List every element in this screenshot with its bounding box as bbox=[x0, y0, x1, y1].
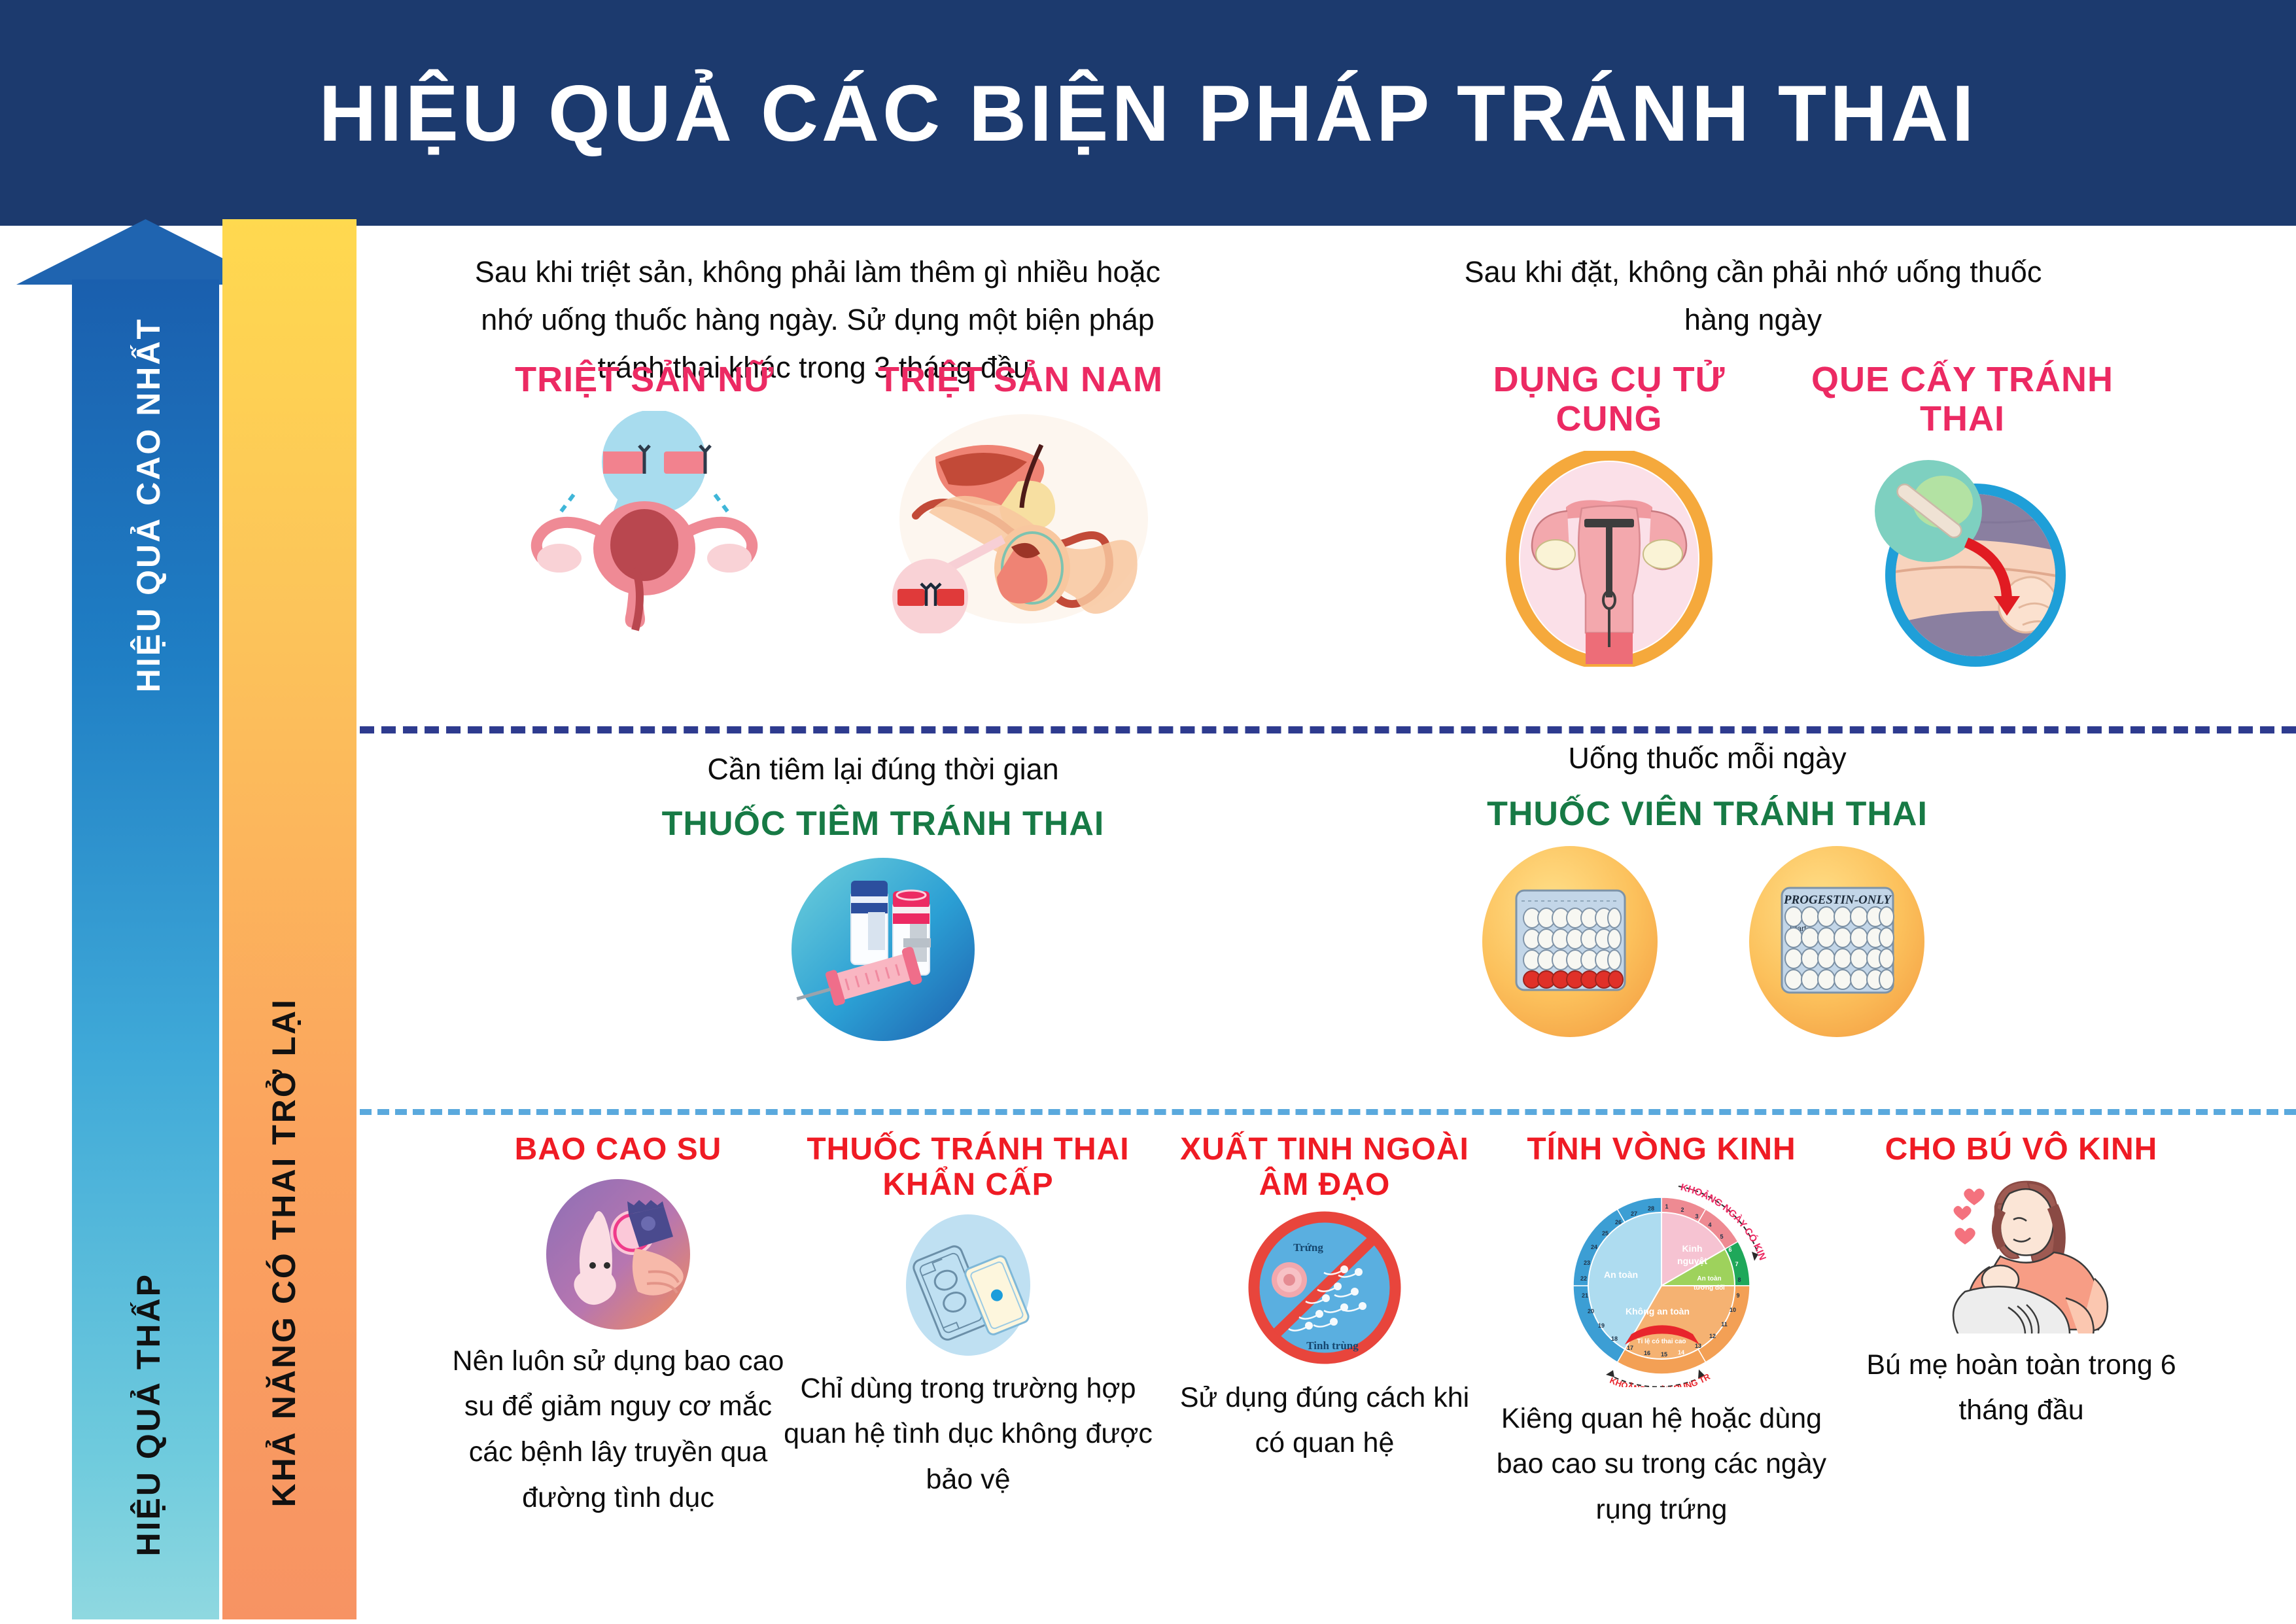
svg-text:16: 16 bbox=[1644, 1350, 1650, 1356]
method-withdrawal[interactable]: XUẤT TINH NGOÀI ÂM ĐẠO Trứng bbox=[1168, 1132, 1482, 1466]
method-title: CHO BÚ VÔ KINH bbox=[1851, 1132, 2191, 1167]
svg-text:28: 28 bbox=[1648, 1205, 1654, 1212]
method-title: THUỐC TIÊM TRÁNH THAI bbox=[608, 805, 1158, 843]
note-iud-implant: Sau khi đặt, không cần phải nhớ uống thu… bbox=[1433, 249, 2074, 344]
row-highest-effectiveness: Sau khi triệt sản, không phải làm thêm g… bbox=[360, 219, 2296, 723]
cycle-label-unsafe: Không an toàn bbox=[1626, 1306, 1690, 1316]
method-title: TÍNH VÒNG KINH bbox=[1478, 1132, 1845, 1167]
breastfeeding-icon bbox=[1930, 1170, 2113, 1333]
svg-text:7: 7 bbox=[1735, 1261, 1738, 1267]
svg-text:23: 23 bbox=[1584, 1260, 1590, 1266]
cycle-high-risk-label: Tỉ lệ có thai cao bbox=[1637, 1338, 1686, 1345]
svg-text:11: 11 bbox=[1721, 1321, 1728, 1328]
method-lactational-amenorrhea[interactable]: CHO BÚ VÔ KINH bbox=[1851, 1132, 2191, 1434]
pill-pack-brand-label: PROGESTIN-ONLY bbox=[1783, 893, 1892, 907]
cycle-wheel-icon: Tỉ lệ có thai cao Kinh nguyệt An toàn tư… bbox=[1554, 1171, 1769, 1387]
condom-icon bbox=[533, 1179, 703, 1330]
page-header: HIỆU QUẢ CÁC BIỆN PHÁP TRÁNH THAI bbox=[0, 0, 2296, 226]
method-implant[interactable]: QUE CẤY TRÁNH THAI bbox=[1779, 360, 2146, 667]
note-oral-pill: Uống thuốc mỗi ngày bbox=[1433, 741, 1982, 775]
method-condom[interactable]: BAO CAO SU bbox=[448, 1132, 788, 1521]
page-title: HIỆU QUẢ CÁC BIỆN PHÁP TRÁNH THAI bbox=[319, 67, 1977, 159]
svg-text:24: 24 bbox=[1591, 1244, 1597, 1250]
svg-text:25: 25 bbox=[1602, 1230, 1609, 1237]
method-oral-pill[interactable]: THUỐC VIÊN TRÁNH THAI bbox=[1433, 795, 1982, 1041]
svg-text:6: 6 bbox=[1728, 1246, 1731, 1253]
female-sterilization-icon bbox=[513, 411, 775, 633]
row-middle-effectiveness: Cần tiêm lại đúng thời gian Uống thuốc m… bbox=[360, 730, 2296, 1109]
method-title: TRIỆT SẢN NỮ bbox=[474, 360, 814, 399]
cycle-label-menses2: nguyệt bbox=[1677, 1256, 1707, 1266]
method-title: TRIỆT SẢN NAM bbox=[850, 360, 1191, 399]
svg-text:20: 20 bbox=[1588, 1308, 1594, 1315]
svg-text:14: 14 bbox=[1678, 1349, 1684, 1356]
method-title: DỤNG CỤ TỬ CUNG bbox=[1439, 360, 1779, 439]
method-male-sterilization[interactable]: TRIỆT SẢN NAM bbox=[850, 360, 1191, 633]
svg-text:5: 5 bbox=[1720, 1233, 1723, 1240]
svg-text:19: 19 bbox=[1598, 1322, 1605, 1329]
method-title: BAO CAO SU bbox=[448, 1132, 788, 1167]
pill-pack-icon: PROGESTIN-ONLY Start bbox=[1433, 845, 1982, 1041]
effectiveness-axis-arrow: HIỆU QUẢ CAO NHẤT HIỆU QUẢ THẤP bbox=[72, 219, 219, 1619]
method-title: XUẤT TINH NGOÀI ÂM ĐẠO bbox=[1168, 1132, 1482, 1203]
svg-text:26: 26 bbox=[1615, 1219, 1622, 1226]
method-caption: Bú mẹ hoàn toàn trong 6 tháng đầu bbox=[1851, 1343, 2191, 1434]
method-title: THUỐC VIÊN TRÁNH THAI bbox=[1433, 795, 1982, 833]
svg-text:9: 9 bbox=[1736, 1292, 1739, 1299]
cycle-label-relsafe2: tương đối bbox=[1694, 1284, 1725, 1292]
method-calendar-rhythm[interactable]: TÍNH VÒNG KINH bbox=[1478, 1132, 1845, 1533]
infographic-page: HIỆU QUẢ CÁC BIỆN PHÁP TRÁNH THAI HIỆU Q… bbox=[0, 0, 2296, 1624]
method-title: QUE CẤY TRÁNH THAI bbox=[1779, 360, 2146, 439]
effectiveness-low-label: HIỆU QUẢ THẤP bbox=[130, 1273, 167, 1556]
note-injection: Cần tiêm lại đúng thời gian bbox=[608, 752, 1158, 786]
cycle-label-menses: Kinh bbox=[1682, 1243, 1702, 1254]
effectiveness-high-label: HIỆU QUẢ CAO NHẤT bbox=[130, 317, 167, 692]
method-caption: Chỉ dùng trong trường hợp quan hệ tình d… bbox=[778, 1366, 1158, 1503]
row-lowest-effectiveness: BAO CAO SU bbox=[360, 1112, 2296, 1619]
svg-text:27: 27 bbox=[1631, 1210, 1637, 1217]
method-title: THUỐC TRÁNH THAI KHẨN CẤP bbox=[778, 1132, 1158, 1203]
method-caption: Nên luôn sử dụng bao cao su để giảm nguy… bbox=[448, 1339, 788, 1521]
method-caption: Sử dụng đúng cách khi có quan hệ bbox=[1168, 1375, 1482, 1466]
svg-text:17: 17 bbox=[1627, 1345, 1633, 1351]
methods-content-area: Sau khi triệt sản, không phải làm thêm g… bbox=[360, 219, 2296, 1619]
cycle-label-relsafe: An toàn bbox=[1697, 1275, 1721, 1282]
svg-text:4: 4 bbox=[1708, 1222, 1711, 1228]
fertility-return-label: KHẢ NĂNG CÓ THAI TRỞ LẠI bbox=[265, 998, 303, 1508]
svg-text:13: 13 bbox=[1695, 1343, 1701, 1349]
svg-text:1: 1 bbox=[1665, 1203, 1668, 1210]
svg-text:18: 18 bbox=[1611, 1335, 1618, 1342]
method-female-sterilization[interactable]: TRIỆT SẢN NỮ bbox=[474, 360, 814, 633]
svg-text:21: 21 bbox=[1582, 1292, 1588, 1299]
svg-text:8: 8 bbox=[1737, 1277, 1741, 1283]
iud-icon bbox=[1505, 451, 1714, 667]
withdrawal-icon: Trứng bbox=[1246, 1209, 1403, 1366]
method-caption: Kiêng quan hệ hoặc dùng bao cao su trong… bbox=[1478, 1396, 1845, 1533]
cycle-label-safe: An toàn bbox=[1604, 1269, 1638, 1280]
implant-icon bbox=[1851, 451, 2074, 667]
emergency-pill-icon bbox=[886, 1207, 1050, 1357]
svg-text:10: 10 bbox=[1730, 1307, 1736, 1313]
svg-text:2: 2 bbox=[1680, 1207, 1684, 1213]
sperm-label: Tinh trùng bbox=[1306, 1339, 1359, 1352]
method-injection[interactable]: THUỐC TIÊM TRÁNH THAI bbox=[608, 805, 1158, 1044]
male-sterilization-icon bbox=[890, 411, 1151, 633]
svg-text:12: 12 bbox=[1709, 1333, 1716, 1339]
fertility-return-axis-bar: KHẢ NĂNG CÓ THAI TRỞ LẠI bbox=[222, 219, 357, 1619]
method-iud[interactable]: DỤNG CỤ TỬ CUNG bbox=[1439, 360, 1779, 667]
svg-text:22: 22 bbox=[1580, 1275, 1587, 1282]
svg-text:3: 3 bbox=[1695, 1213, 1698, 1220]
svg-text:15: 15 bbox=[1661, 1351, 1667, 1358]
method-emergency-pill[interactable]: THUỐC TRÁNH THAI KHẨN CẤP bbox=[778, 1132, 1158, 1502]
injection-icon bbox=[788, 855, 978, 1044]
egg-label: Trứng bbox=[1293, 1241, 1323, 1254]
